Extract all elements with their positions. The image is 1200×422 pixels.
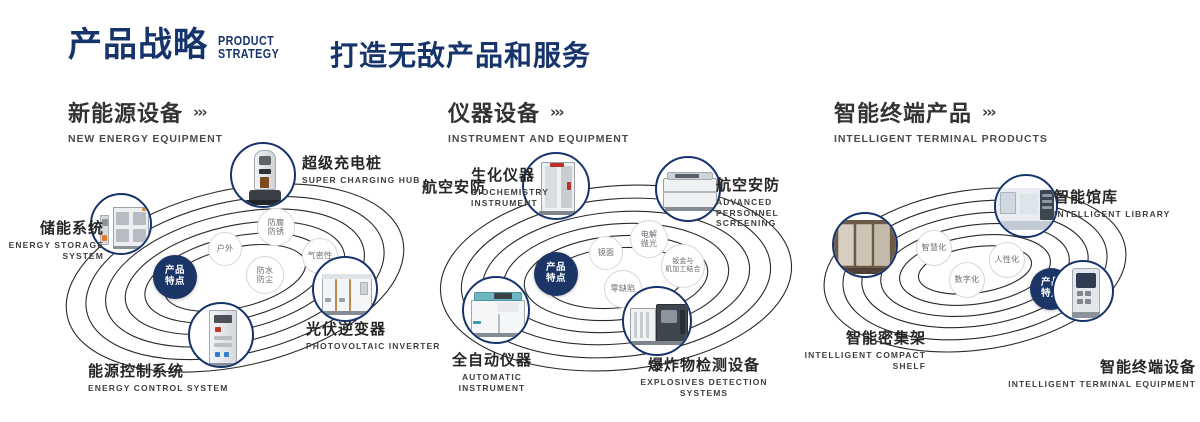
feature-bubble-waterproof: 防水防尘 <box>246 256 284 294</box>
section-header-intelligent-terminal: 智能终端产品 ››› INTELLIGENT TERMINAL PRODUCTS <box>834 96 1048 145</box>
caption-en: EXPLOSIVES DETECTION SYSTEMS <box>634 377 774 398</box>
core-bubble-product-features: 产品特点 <box>534 252 578 296</box>
feature-bubble-mirror-finish: 镜面 <box>589 236 623 270</box>
feature-bubble-sheetmetal-machining: 钣金与机加工结合 <box>661 244 705 288</box>
caption-cn: 全自动仪器 <box>437 349 547 370</box>
caption-en: ENERGY CONTROL SYSTEM <box>88 383 228 394</box>
caption-advanced-personnel-screening: 航空安防 ADVANCED PERSONNEL SCREENING <box>716 174 808 229</box>
feature-bubble-intelligentization: 智慧化 <box>916 230 952 266</box>
caption-cn: 智能密集架 <box>786 327 926 348</box>
feature-line1: 人性化 <box>995 255 1020 264</box>
section-title-en: INSTRUMENT AND EQUIPMENT <box>448 133 629 145</box>
caption-cn: 生化仪器 <box>471 164 561 185</box>
caption-intelligent-library: 智能馆库 INTELLIGENT LIBRARY <box>1054 186 1170 220</box>
caption-cn: 能源控制系统 <box>88 360 228 381</box>
feature-line2: 防锈 <box>268 227 285 236</box>
section-title-cn: 智能终端产品 ››› <box>834 96 1048 128</box>
feature-bubble-digitalization: 数字化 <box>949 262 985 298</box>
feature-line2: 机加工结合 <box>665 266 700 274</box>
feature-line2: 防尘 <box>257 275 274 284</box>
section-header-new-energy: 新能源设备 ››› NEW ENERGY EQUIPMENT <box>68 96 223 145</box>
caption-energy-storage-system: 储能系统 ENERGY STORAGE SYSTEM <box>0 217 104 261</box>
section-title-text: 智能终端产品 <box>834 96 972 128</box>
caption-en: INTELLIGENT COMPACT SHELF <box>786 350 926 371</box>
feature-line1: 防腐 <box>268 218 285 227</box>
caption-en: BIOCHEMISTRY INSTRUMENT <box>471 187 561 208</box>
compact-shelf-icon <box>834 214 896 276</box>
section-title-text: 新能源设备 <box>68 96 183 128</box>
chevron-right-icon: ››› <box>982 103 995 121</box>
explosives-detector-icon <box>624 288 690 354</box>
photo-bubble-advanced-personnel-screening[interactable] <box>655 156 721 222</box>
feature-bubble-anticorrosion: 防腐防锈 <box>257 208 295 246</box>
page-title-en-line2: STRATEGY <box>218 48 279 61</box>
feature-line1: 户外 <box>217 244 234 253</box>
cluster-new-energy: 产品特点 户外 防腐防锈 防水防尘 气密性 <box>40 160 430 390</box>
caption-intelligent-compact-shelf: 智能密集架 INTELLIGENT COMPACT SHELF <box>786 327 926 371</box>
section-title-cn: 新能源设备 ››› <box>68 96 223 128</box>
caption-cn: 智能终端设备 <box>1000 356 1196 377</box>
feature-bubble-humanization: 人性化 <box>989 242 1025 278</box>
screening-machine-icon <box>657 158 719 220</box>
caption-en: ADVANCED PERSONNEL SCREENING <box>716 197 808 229</box>
photo-bubble-automatic-instrument[interactable] <box>462 276 530 344</box>
page-title: 产品战略 PRODUCT STRATEGY <box>68 28 289 62</box>
feature-line1: 镜面 <box>598 248 615 257</box>
page-subtitle: 打造无敌产品和服务 <box>330 34 591 74</box>
feature-line1: 数字化 <box>955 275 980 284</box>
control-cabinet-icon <box>190 304 252 366</box>
section-title-en: NEW ENERGY EQUIPMENT <box>68 133 223 145</box>
photo-bubble-photovoltaic-inverter[interactable] <box>312 256 378 322</box>
page-title-cn: 产品战略 <box>68 28 208 62</box>
core-bubble-line2: 特点 <box>546 274 566 285</box>
caption-automatic-instrument: 全自动仪器 AUTOMATIC INSTRUMENT <box>437 349 547 393</box>
photo-bubble-super-charging-hub[interactable] <box>230 142 296 208</box>
caption-en: PHOTOVOLTAIC INVERTER <box>306 341 441 352</box>
caption-energy-control-system: 能源控制系统 ENERGY CONTROL SYSTEM <box>88 360 228 394</box>
infographic-page: 产品战略 PRODUCT STRATEGY 打造无敌产品和服务 新能源设备 ››… <box>0 0 1200 422</box>
photo-bubble-intelligent-terminal-equipment[interactable] <box>1052 260 1114 322</box>
terminal-kiosk-icon <box>1054 262 1112 320</box>
caption-en: INTELLIGENT TERMINAL EQUIPMENT <box>1000 379 1196 390</box>
caption-photovoltaic-inverter: 光伏逆变器 PHOTOVOLTAIC INVERTER <box>306 318 441 352</box>
caption-en: AUTOMATIC INSTRUMENT <box>437 372 547 393</box>
feature-line2: 抛光 <box>641 239 658 248</box>
feature-bubble-outdoor: 户外 <box>208 232 242 266</box>
section-title-text: 仪器设备 <box>448 96 540 128</box>
feature-line1: 智慧化 <box>922 243 947 252</box>
caption-biochemistry-instrument: 生化仪器 BIOCHEMISTRY INSTRUMENT <box>471 164 561 208</box>
automatic-analyzer-icon <box>464 278 528 342</box>
caption-cn: 航空安防 <box>716 174 808 195</box>
caption-en: INTELLIGENT LIBRARY <box>1054 209 1170 220</box>
pv-inverter-cabinet-icon <box>314 258 376 320</box>
section-title-cn: 仪器设备 ››› <box>448 96 629 128</box>
feature-line1: 防水 <box>257 266 274 275</box>
chevron-right-icon: ››› <box>193 103 206 121</box>
caption-en: ENERGY STORAGE SYSTEM <box>0 240 104 261</box>
chevron-right-icon: ››› <box>550 103 563 121</box>
feature-bubble-electropolishing: 电解抛光 <box>630 220 668 258</box>
page-title-en-line1: PRODUCT <box>218 35 279 48</box>
section-title-en: INTELLIGENT TERMINAL PRODUCTS <box>834 133 1048 145</box>
feature-line1: 电解 <box>641 230 658 239</box>
caption-cn: 爆炸物检测设备 <box>634 354 774 375</box>
caption-cn: 智能馆库 <box>1054 186 1170 207</box>
caption-cn: 光伏逆变器 <box>306 318 441 339</box>
charging-pile-icon <box>232 144 294 206</box>
photo-bubble-explosives-detection-systems[interactable] <box>622 286 692 356</box>
page-title-en: PRODUCT STRATEGY <box>218 35 279 60</box>
library-room-icon <box>996 176 1056 236</box>
caption-cn: 超级充电桩 <box>302 152 421 173</box>
photo-bubble-energy-control-system[interactable] <box>188 302 254 368</box>
photo-bubble-intelligent-compact-shelf[interactable] <box>832 212 898 278</box>
caption-explosives-detection-systems: 爆炸物检测设备 EXPLOSIVES DETECTION SYSTEMS <box>634 354 774 398</box>
core-bubble-line2: 特点 <box>165 277 185 288</box>
photo-bubble-intelligent-library[interactable] <box>994 174 1058 238</box>
section-header-instrument: 仪器设备 ››› INSTRUMENT AND EQUIPMENT <box>448 96 629 145</box>
caption-cn: 储能系统 <box>0 217 104 238</box>
caption-intelligent-terminal-equipment: 智能终端设备 INTELLIGENT TERMINAL EQUIPMENT <box>1000 356 1196 390</box>
core-bubble-product-features: 产品特点 <box>153 255 197 299</box>
